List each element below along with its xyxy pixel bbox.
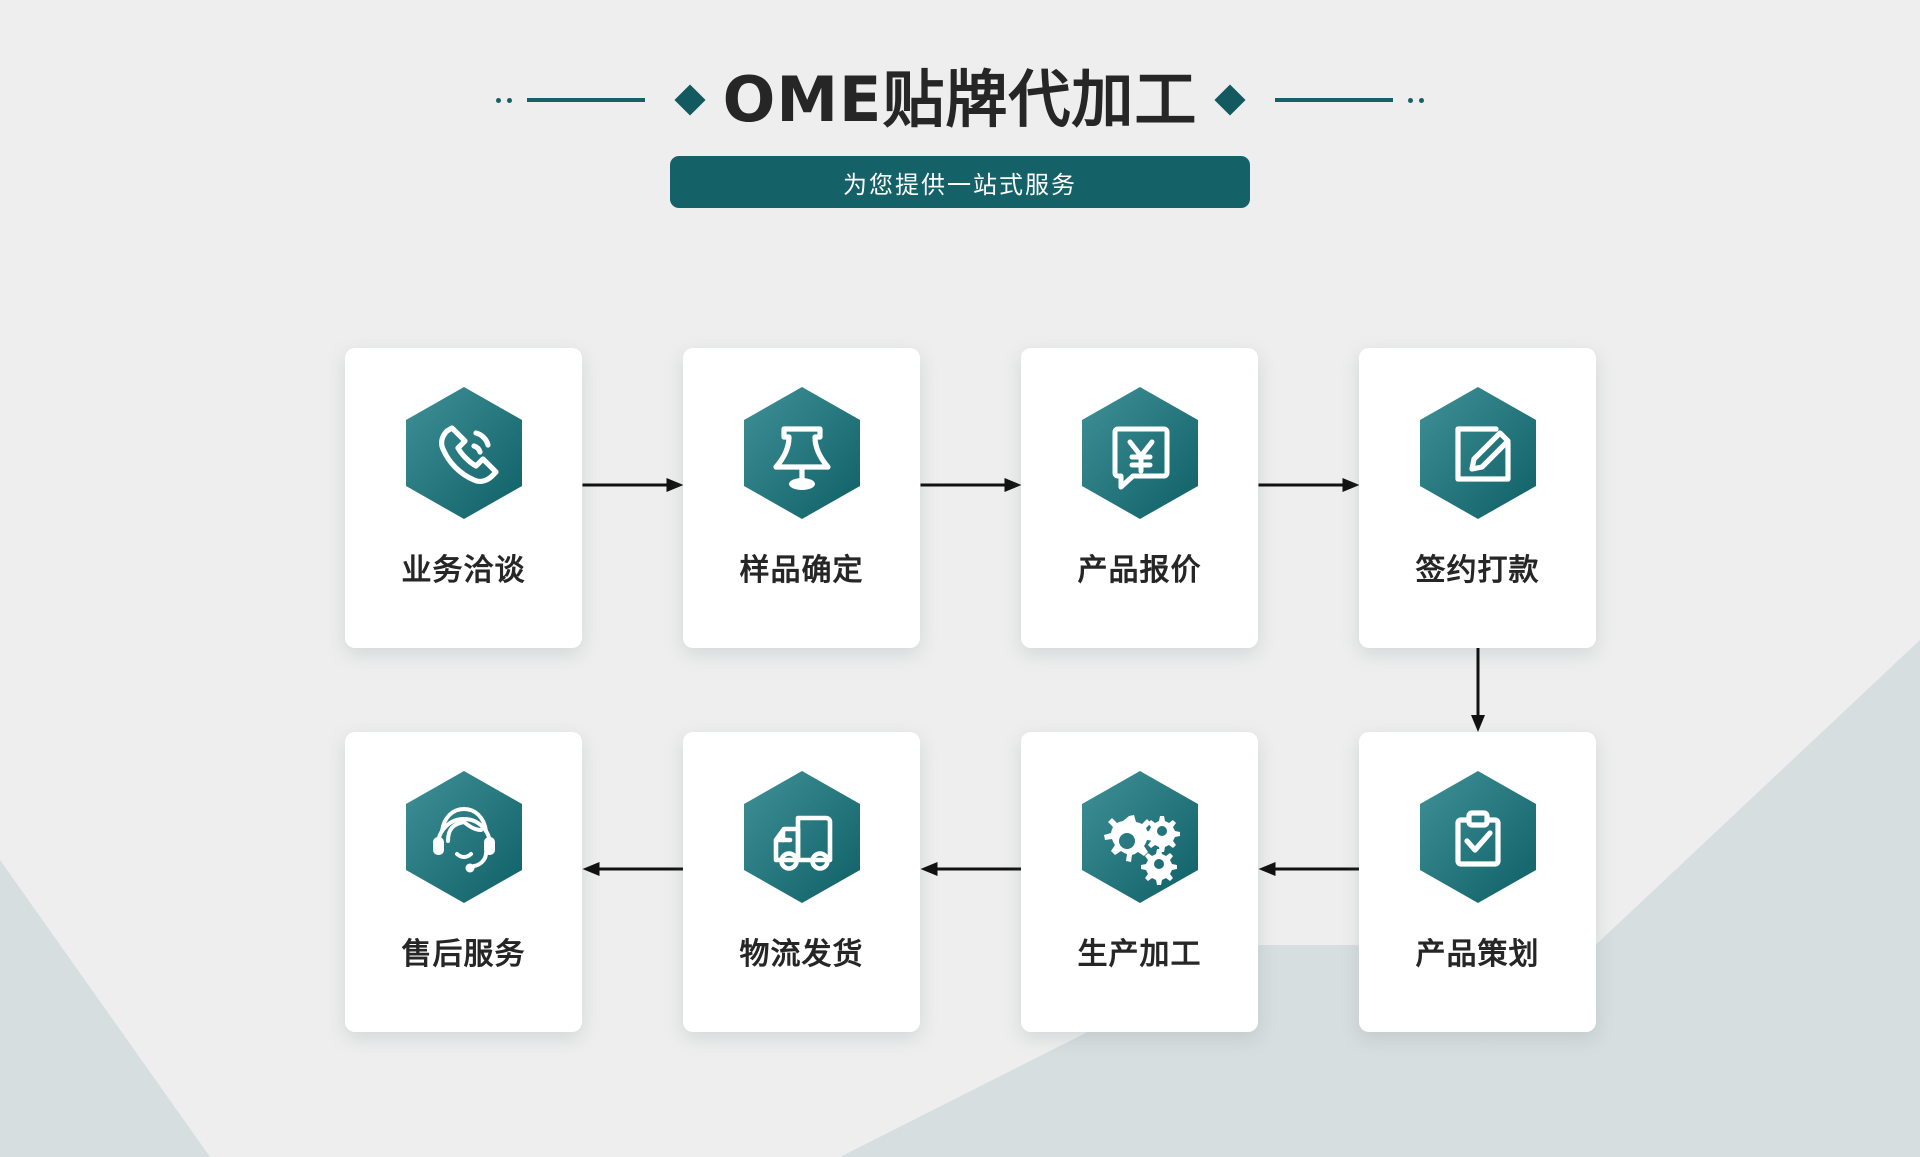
subtitle-text: 为您提供一站式服务 <box>843 165 1077 200</box>
flow-card-label: 售后服务 <box>345 929 582 973</box>
flow-card-label: 产品策划 <box>1359 929 1596 973</box>
connector-gap <box>1258 348 1359 648</box>
flow-card-label: 签约打款 <box>1359 545 1596 589</box>
title-row: OME贴牌代加工 <box>493 62 1428 138</box>
dot-icon <box>496 98 501 103</box>
arrow-down-icon <box>1467 648 1489 732</box>
connector-gap <box>920 732 1021 1032</box>
headset-support-icon <box>402 769 526 905</box>
arrow-left-icon <box>1258 858 1359 880</box>
pushpin-icon <box>740 385 864 521</box>
diamond-icon <box>1215 84 1246 115</box>
flow-card-production[interactable]: 生产加工 <box>1021 732 1258 1032</box>
flow-card-label: 生产加工 <box>1021 929 1258 973</box>
page-title: OME贴牌代加工 <box>723 69 1198 131</box>
connector-gap <box>1258 732 1359 1032</box>
flow-card-label: 物流发货 <box>683 929 920 973</box>
hexagon-badge <box>402 385 526 521</box>
dot-icon <box>1408 98 1413 103</box>
hexagon-badge <box>1078 769 1202 905</box>
hexagon-badge <box>740 385 864 521</box>
flow-card-label: 业务洽谈 <box>345 545 582 589</box>
flow-card-product-planning[interactable]: 产品策划 <box>1359 732 1596 1032</box>
diamond-icon <box>674 84 705 115</box>
flow-card-sign-payment[interactable]: 签约打款 <box>1359 348 1596 648</box>
hexagon-badge <box>1416 385 1540 521</box>
gears-icon <box>1078 769 1202 905</box>
connector-gap <box>582 732 683 1032</box>
dot-icon <box>1419 98 1424 103</box>
flow-card-product-quote[interactable]: 产品报价 <box>1021 348 1258 648</box>
hexagon-badge <box>1416 769 1540 905</box>
flow-card-label: 样品确定 <box>683 545 920 589</box>
clipboard-check-icon <box>1416 769 1540 905</box>
left-decoration <box>493 89 723 111</box>
process-flow: 业务洽谈 <box>345 348 1595 1032</box>
arrow-right-icon <box>920 474 1021 496</box>
flow-card-business-consult[interactable]: 业务洽谈 <box>345 348 582 648</box>
arrow-right-icon <box>1258 474 1359 496</box>
flow-card-label: 产品报价 <box>1021 545 1258 589</box>
decorative-line <box>1275 98 1393 102</box>
yuan-quote-bubble-icon <box>1078 385 1202 521</box>
hexagon-badge <box>740 769 864 905</box>
infographic-canvas: OME贴牌代加工 为您提供一站式服务 <box>0 0 1920 1157</box>
flow-card-after-sales[interactable]: 售后服务 <box>345 732 582 1032</box>
dot-icon <box>507 98 512 103</box>
flow-row-bottom: 售后服务 <box>345 732 1595 1032</box>
decorative-line <box>527 98 645 102</box>
subtitle-banner: 为您提供一站式服务 <box>670 156 1250 208</box>
connector-gap <box>582 348 683 648</box>
right-decoration <box>1197 89 1427 111</box>
hexagon-badge <box>402 769 526 905</box>
arrow-left-icon <box>582 858 683 880</box>
delivery-truck-icon <box>740 769 864 905</box>
flow-card-logistics[interactable]: 物流发货 <box>683 732 920 1032</box>
arrow-left-icon <box>920 858 1021 880</box>
header: OME贴牌代加工 为您提供一站式服务 <box>0 62 1920 208</box>
connector-gap <box>920 348 1021 648</box>
flow-row-top: 业务洽谈 <box>345 348 1595 648</box>
arrow-right-icon <box>582 474 683 496</box>
diagonal-shape-left <box>0 860 210 1157</box>
contract-edit-icon <box>1416 385 1540 521</box>
hexagon-badge <box>1078 385 1202 521</box>
flow-card-sample-confirm[interactable]: 样品确定 <box>683 348 920 648</box>
phone-call-icon <box>402 385 526 521</box>
